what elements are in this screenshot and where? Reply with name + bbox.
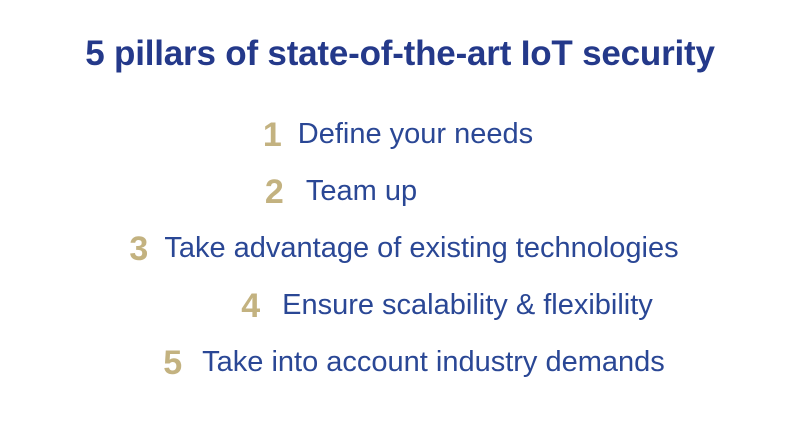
list-item: 4 Ensure scalability & flexibility [47, 277, 800, 334]
list-item: 2 Team up [0, 163, 741, 220]
list-item-label: Take advantage of existing technologies [164, 233, 678, 265]
list-item-number: 3 [129, 232, 148, 266]
list-item-label: Ensure scalability & flexibility [282, 290, 653, 322]
list-item-number: 4 [241, 289, 260, 323]
slide-canvas: 5 pillars of state-of-the-art IoT securi… [0, 0, 800, 434]
list-item: 3 Take advantage of existing technologie… [4, 220, 800, 277]
list-item: 1 Define your needs [0, 106, 798, 163]
list-item-label: Define your needs [298, 119, 533, 151]
list-item-label: Take into account industry demands [202, 347, 665, 379]
list-item-number: 5 [163, 346, 182, 380]
list-item: 5 Take into account industry demands [14, 334, 800, 391]
list-item-number: 1 [263, 118, 282, 152]
pillar-list: 1 Define your needs 2 Team up 3 Take adv… [0, 106, 800, 391]
list-item-label: Team up [306, 176, 417, 208]
page-title: 5 pillars of state-of-the-art IoT securi… [0, 34, 800, 73]
list-item-number: 2 [265, 175, 284, 209]
